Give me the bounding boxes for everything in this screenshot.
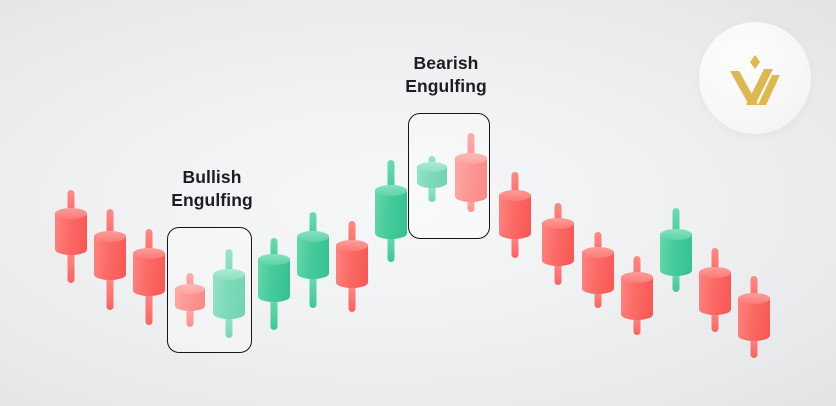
candlestick-illustration: Bullish EngulfingBearish Engulfing (0, 0, 836, 406)
candle-1-bearish (94, 209, 126, 310)
candle-14-top-cap (621, 272, 653, 283)
candle-14-body (621, 277, 653, 320)
candle-13-top-cap (582, 247, 614, 258)
candle-17-top-cap (738, 293, 770, 304)
candle-8-body (375, 190, 407, 239)
candle-16-body (699, 272, 731, 315)
v-crown-icon (720, 43, 790, 113)
pattern-box-bullish-engulfing[interactable] (167, 227, 252, 353)
candle-6-bullish (297, 212, 329, 308)
candle-12-top-cap (542, 218, 574, 229)
candle-0-top-cap (55, 208, 87, 219)
candle-12-body (542, 223, 574, 266)
candle-13-body (582, 252, 614, 294)
candle-0-body (55, 213, 87, 255)
candle-15-bullish (660, 208, 692, 292)
candle-1-top-cap (94, 231, 126, 242)
candle-5-bullish (258, 238, 290, 330)
candle-7-bearish (336, 221, 368, 312)
candle-0-bearish (55, 190, 87, 283)
candle-11-bearish (499, 172, 531, 258)
candle-14-bearish (621, 256, 653, 335)
candle-16-top-cap (699, 267, 731, 278)
candle-17-body (738, 298, 770, 341)
candle-6-body (297, 236, 329, 279)
candle-5-body (258, 259, 290, 302)
candle-11-body (499, 195, 531, 239)
pattern-label-bearish-engulfing: Bearish Engulfing (396, 52, 496, 98)
candle-15-top-cap (660, 229, 692, 240)
candle-16-bearish (699, 248, 731, 332)
candle-8-bullish (375, 160, 407, 262)
candle-15-body (660, 234, 692, 276)
pattern-label-bullish-engulfing: Bullish Engulfing (164, 166, 260, 212)
candle-12-bearish (542, 203, 574, 285)
candle-6-top-cap (297, 231, 329, 242)
candle-2-body (133, 253, 165, 296)
candle-2-bearish (133, 229, 165, 325)
candle-11-top-cap (499, 190, 531, 201)
candle-13-bearish (582, 232, 614, 308)
candle-7-top-cap (336, 240, 368, 251)
candle-2-top-cap (133, 248, 165, 259)
candle-8-top-cap (375, 185, 407, 196)
candle-1-body (94, 236, 126, 280)
candle-5-top-cap (258, 254, 290, 265)
pattern-box-bearish-engulfing[interactable] (408, 113, 490, 239)
candle-17-bearish (738, 276, 770, 358)
candle-7-body (336, 245, 368, 288)
brand-logo[interactable] (699, 22, 811, 134)
